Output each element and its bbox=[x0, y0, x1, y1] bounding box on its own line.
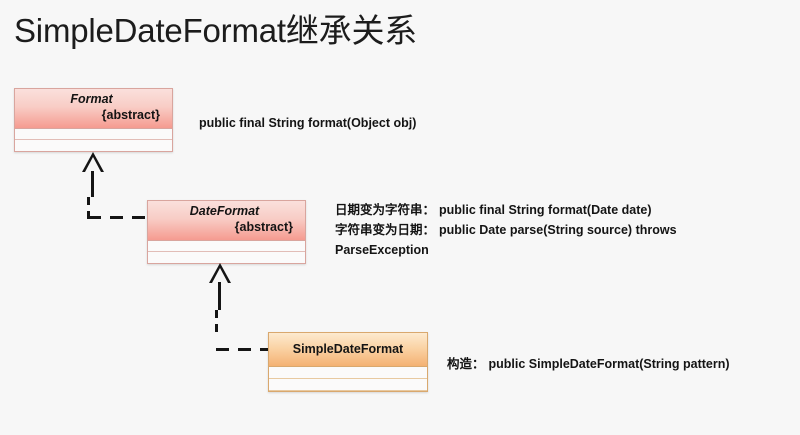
annotation-dateformat-methods: 日期变为字符串： public final String format(Date… bbox=[335, 200, 795, 260]
uml-class-simpledateformat[interactable]: SimpleDateFormat bbox=[268, 332, 428, 392]
annotation-value-format-date: public final String format(Date date) bbox=[439, 201, 652, 220]
annotation-value-constructor: public SimpleDateFormat(String pattern) bbox=[489, 357, 730, 371]
annotation-label-date-to-string: 日期变为字符串： bbox=[335, 200, 439, 219]
uml-class-stereotype-format: {abstract} bbox=[23, 108, 160, 124]
uml-class-format[interactable]: Format {abstract} bbox=[14, 88, 173, 152]
generalization-dashed-horizontal bbox=[88, 216, 148, 219]
annotation-label-string-to-date: 字符串变为日期： bbox=[335, 220, 439, 239]
uml-class-name-simpledateformat: SimpleDateFormat bbox=[293, 342, 403, 358]
uml-attributes-compartment-simpledateformat bbox=[269, 367, 427, 379]
annotation-format-method: public final String format(Object obj) bbox=[199, 114, 416, 133]
generalization-arrowhead-fill bbox=[85, 157, 101, 172]
uml-operations-compartment-dateformat bbox=[148, 252, 305, 263]
uml-attributes-compartment-format bbox=[15, 129, 172, 140]
uml-class-stereotype-dateformat: {abstract} bbox=[156, 220, 293, 236]
annotation-value-parse-string: public Date parse(String source) throws bbox=[439, 221, 677, 240]
generalization-arrowhead-fill bbox=[212, 268, 228, 283]
uml-class-dateformat[interactable]: DateFormat {abstract} bbox=[147, 200, 306, 264]
uml-class-name-dateformat: DateFormat bbox=[156, 204, 293, 220]
annotation-row-format-date: 日期变为字符串： public final String format(Date… bbox=[335, 200, 795, 220]
annotation-value-parse-exception: ParseException bbox=[335, 243, 429, 257]
uml-operations-compartment-format bbox=[15, 140, 172, 151]
uml-attributes-compartment-dateformat bbox=[148, 241, 305, 252]
annotation-row-parse-exception: ParseException bbox=[335, 241, 795, 260]
page-title: SimpleDateFormat继承关系 bbox=[14, 10, 417, 51]
generalization-stem bbox=[218, 282, 221, 310]
generalization-stem bbox=[91, 171, 94, 197]
uml-class-header-dateformat: DateFormat {abstract} bbox=[148, 201, 305, 241]
uml-class-header-format: Format {abstract} bbox=[15, 89, 172, 129]
uml-class-header-simpledateformat: SimpleDateFormat bbox=[269, 333, 427, 367]
annotation-simpledateformat-constructor: 构造：public SimpleDateFormat(String patter… bbox=[447, 354, 730, 374]
annotation-row-parse-string: 字符串变为日期： public Date parse(String source… bbox=[335, 220, 795, 240]
diagram-canvas: SimpleDateFormat继承关系 Format {abstract} p… bbox=[0, 0, 800, 435]
uml-class-name-format: Format bbox=[23, 92, 160, 108]
generalization-dashed-vertical bbox=[215, 310, 218, 334]
uml-operations-compartment-simpledateformat bbox=[269, 379, 427, 391]
generalization-dashed-horizontal bbox=[216, 348, 270, 351]
annotation-label-constructor: 构造： bbox=[447, 356, 485, 371]
